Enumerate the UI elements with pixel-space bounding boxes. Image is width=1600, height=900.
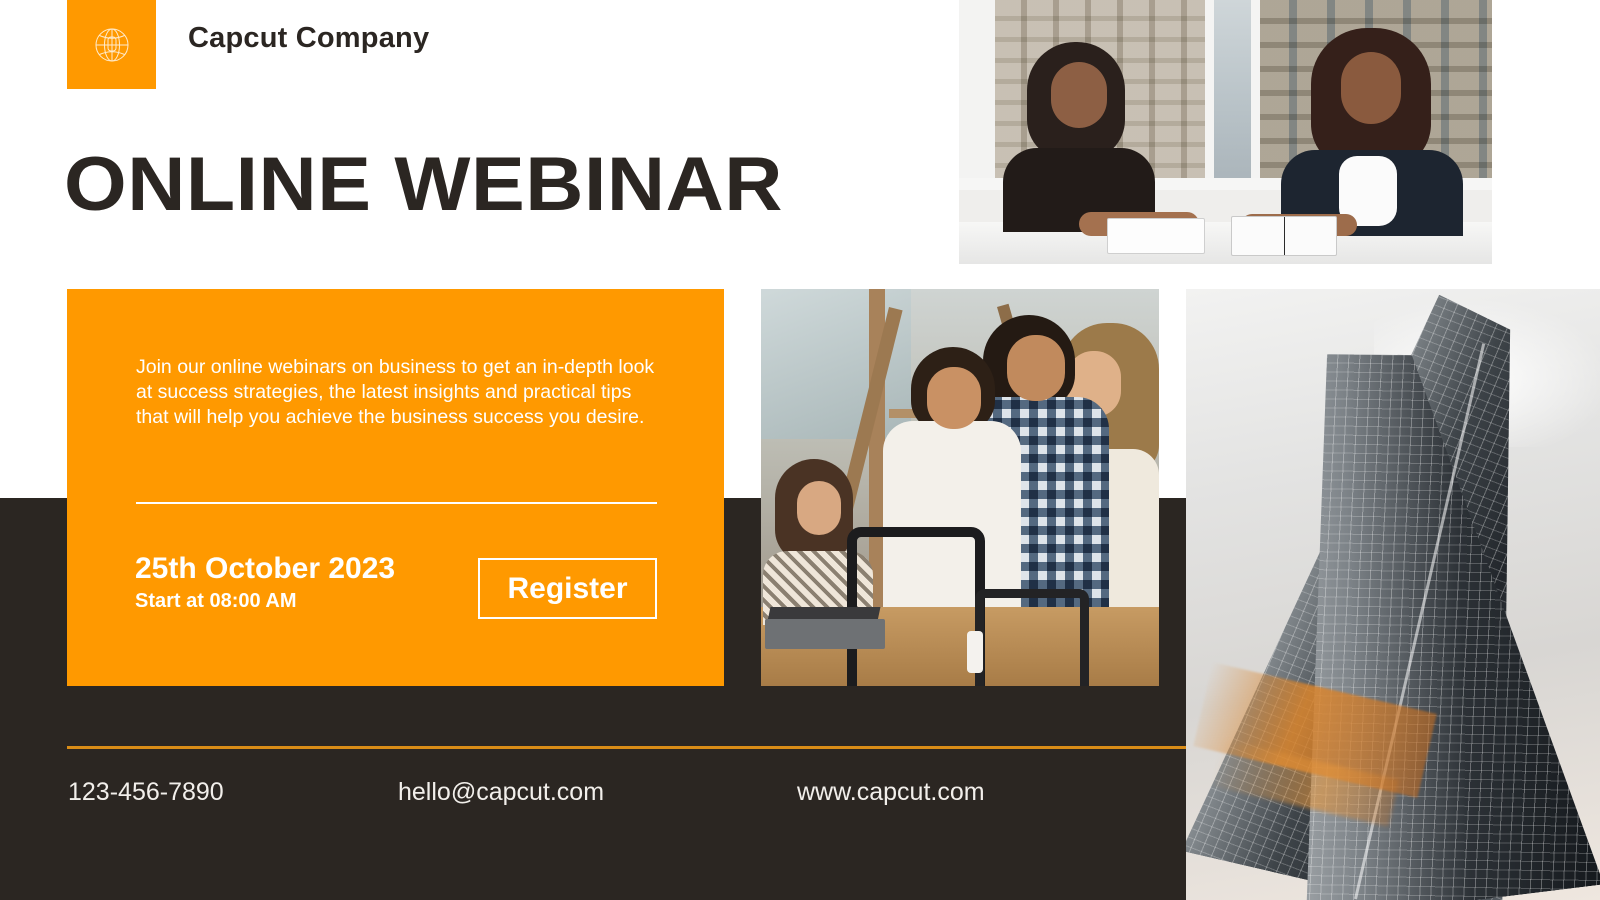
window-mullion [1251,0,1260,186]
event-date: 25th October 2023 [135,552,395,586]
webinar-info-card: Join our online webinars on business to … [67,289,724,686]
water-bottle [967,631,983,673]
contact-phone[interactable]: 123-456-7890 [68,778,224,807]
event-start-time: Start at 08:00 AM [135,590,297,613]
two-women-meeting-photo [959,0,1492,264]
team-around-laptop-photo [761,289,1159,686]
interior-wall [959,0,995,186]
skyscraper-upward-photo [1186,289,1600,900]
contact-website[interactable]: www.capcut.com [797,778,985,807]
register-button[interactable]: Register [478,558,657,619]
person-one-face [1051,62,1107,128]
webinar-description: Join our online webinars on business to … [136,355,664,430]
footer-divider [67,746,1186,749]
laptop-base [765,619,885,649]
contact-email[interactable]: hello@capcut.com [398,778,604,807]
man-white-shirt-face [927,367,981,429]
notebook-right [1231,216,1337,256]
notebook-left [1107,218,1205,254]
person-two-face [1341,52,1401,124]
office-chair-two [975,589,1089,686]
webinar-poster: Capcut Company ONLINE WEBINAR [0,0,1600,900]
brand-name: Capcut Company [188,22,429,55]
window-mullion [1205,0,1214,186]
card-divider [136,502,657,504]
globe-icon [89,22,135,68]
woman-seated-face [797,481,841,535]
man-checkered-face [1007,335,1065,401]
brand-logo-tile [67,0,156,89]
page-title: ONLINE WEBINAR [64,147,783,223]
